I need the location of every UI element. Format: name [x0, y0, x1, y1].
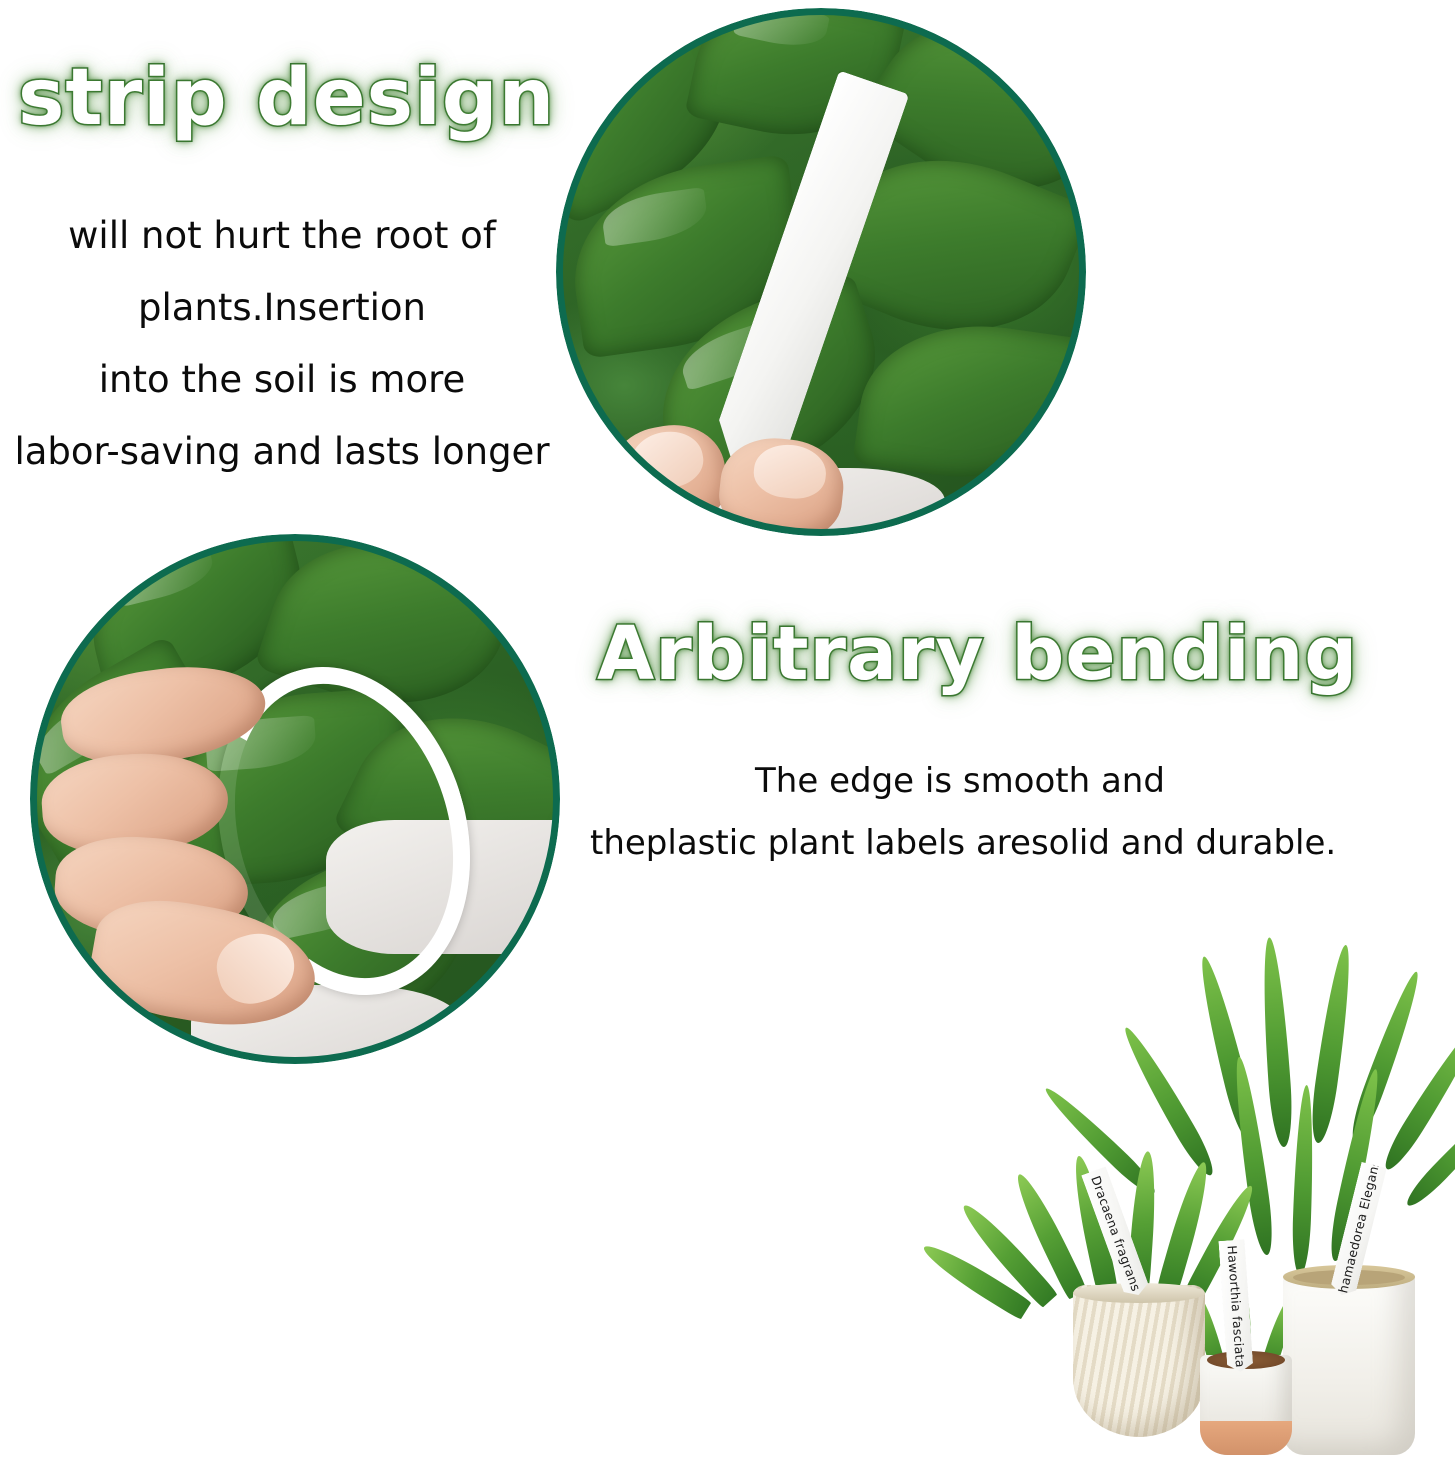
body-line: plants.Insertion	[0, 272, 572, 344]
palm-frond	[1258, 937, 1295, 1148]
hand-bending-label	[36, 654, 347, 1037]
plant-tag-label: Haworthia fasciata	[1224, 1244, 1248, 1367]
feature-title-arbitrary-bending: Arbitrary bending	[597, 610, 1358, 698]
photo-circle-strip-design	[556, 8, 1086, 536]
body-line: will not hurt the root of	[0, 200, 572, 272]
feature-body-arbitrary-bending: The edge is smooth and theplastic plant …	[590, 750, 1330, 874]
pot-haworthia-terracotta-base	[1200, 1421, 1292, 1455]
body-line: into the soil is more	[0, 344, 572, 416]
body-line: labor-saving and lasts longer	[0, 416, 572, 488]
feature-title-strip-design: strip design	[18, 52, 555, 144]
pot-dracaena	[1073, 1285, 1205, 1437]
hand-holding-label	[603, 396, 945, 530]
body-line: theplastic plant labels aresolid and dur…	[590, 812, 1330, 874]
photo-circle-arbitrary-bending	[30, 534, 560, 1064]
product-photo-labeled-plants: Dracaena fragrans Haworthia fasciata Cha…	[995, 935, 1455, 1465]
palm-frond	[1307, 943, 1357, 1144]
feature-body-strip-design: will not hurt the root of plants.Inserti…	[0, 200, 572, 488]
photo-inner	[562, 14, 1080, 530]
pot-chamaedorea	[1283, 1273, 1415, 1455]
infographic-page: strip design will not hurt the root of p…	[0, 0, 1455, 1465]
body-line: The edge is smooth and	[590, 750, 1330, 812]
pot-haworthia	[1200, 1355, 1292, 1455]
plant-arrangement: Dracaena fragrans Haworthia fasciata Cha…	[995, 935, 1455, 1465]
palm-frond	[1117, 1023, 1219, 1180]
photo-inner	[36, 540, 554, 1058]
